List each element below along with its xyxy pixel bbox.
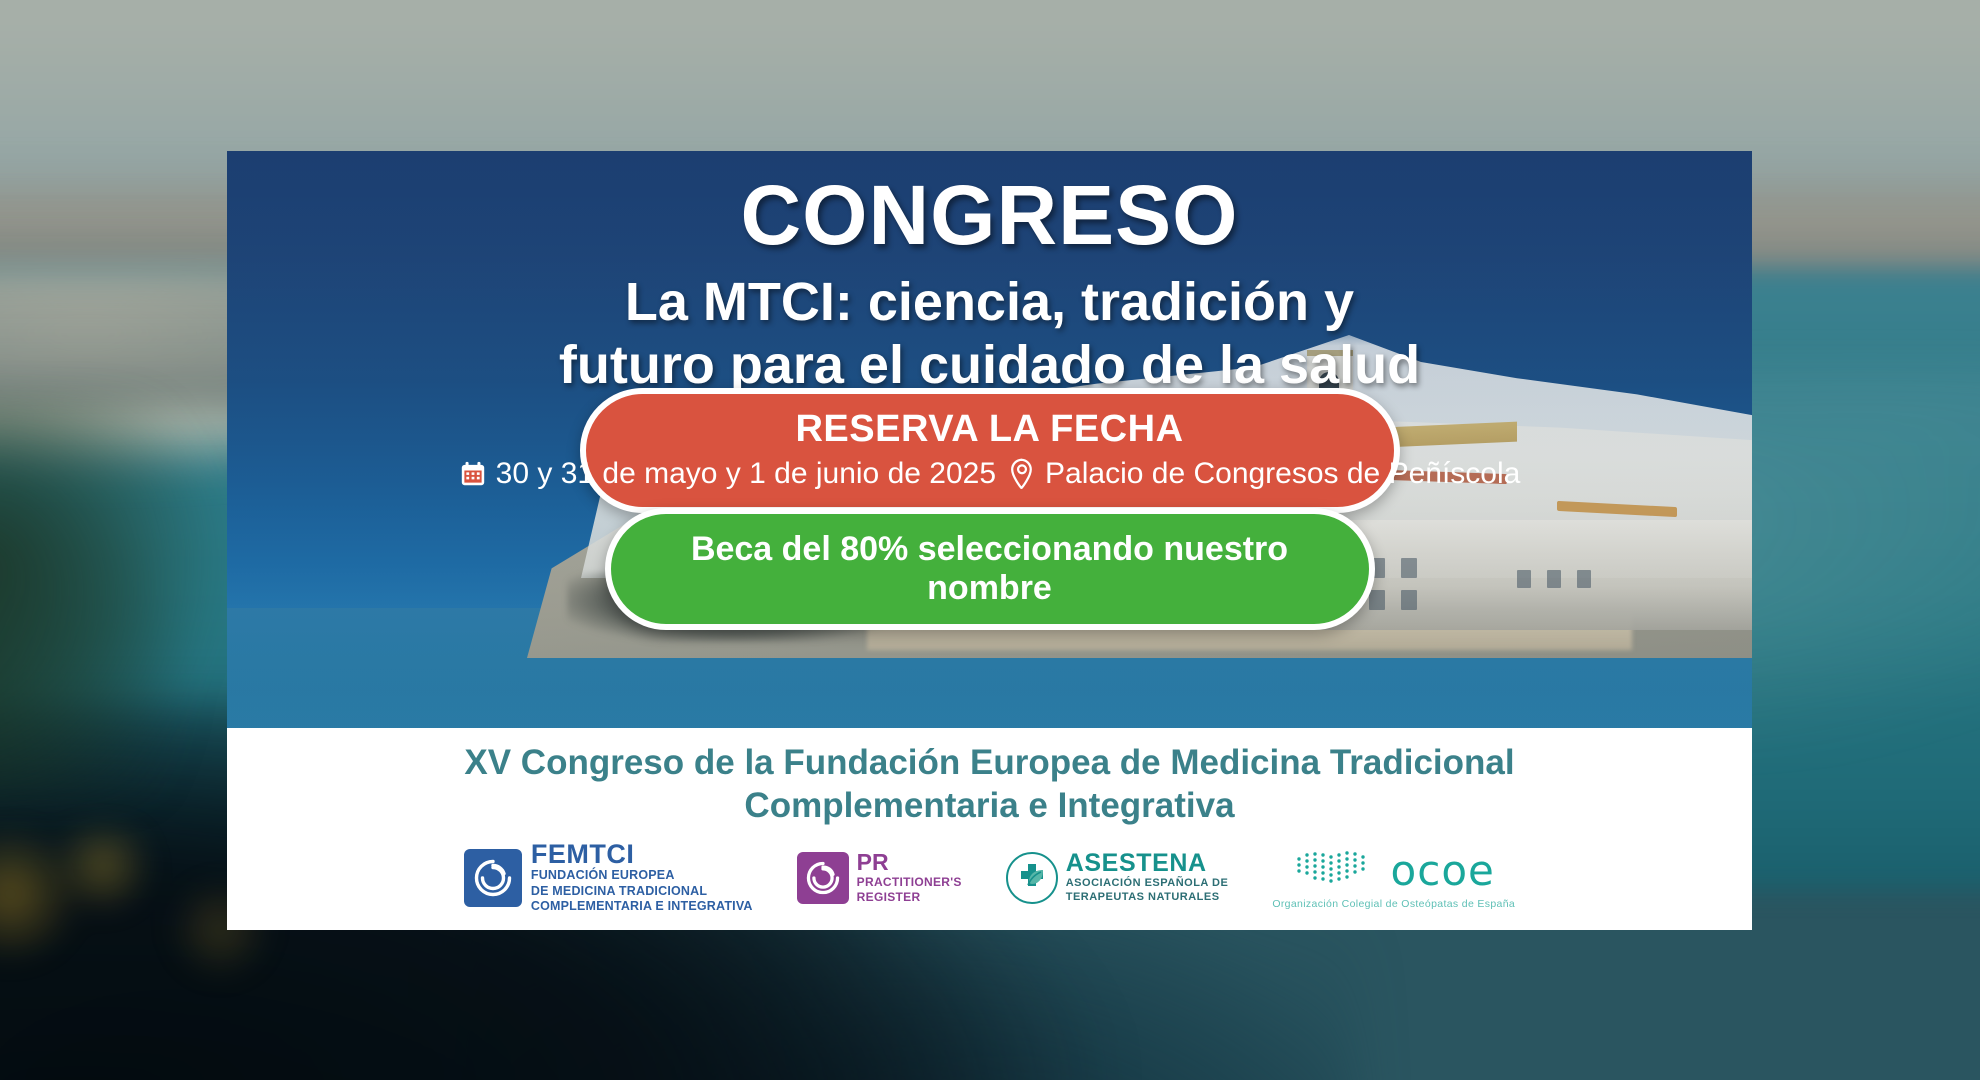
logo-practitioners-register[interactable]: PR PRACTITIONER'S REGISTER [797, 851, 962, 905]
date-pill-container: RESERVA LA FECHA [227, 388, 1752, 513]
calendar-icon [459, 460, 487, 488]
footer-title: XV Congreso de la Fundación Europea de M… [227, 742, 1752, 827]
footer-title-line-2: Complementaria e Integrativa [267, 785, 1712, 828]
congress-flyer-card: CONGRESO La MTCI: ciencia, tradición y f… [227, 151, 1752, 930]
flyer-footer: XV Congreso de la Fundación Europea de M… [227, 728, 1752, 930]
pr-text: PR PRACTITIONER'S REGISTER [857, 851, 962, 905]
grant-label: Beca del 80% seleccionando nuestro nombr… [637, 530, 1343, 608]
flyer-headline-block: CONGRESO La MTCI: ciencia, tradición y f… [227, 151, 1752, 425]
asestena-cross-leaf-icon [1006, 852, 1058, 904]
date-meta-item: 30 y 31 de mayo y 1 de junio de 2025 [459, 457, 996, 491]
pr-name: PR [857, 849, 889, 875]
reserve-date-meta: 30 y 31 de mayo y 1 de junio de 2025 Pal… [612, 457, 1368, 491]
footer-title-line-1: XV Congreso de la Fundación Europea de M… [267, 742, 1712, 785]
page-title: CONGRESO [227, 173, 1752, 259]
reserve-date-title: RESERVA LA FECHA [612, 408, 1368, 452]
ocoe-name: ocoe [1391, 850, 1495, 892]
pr-subtitle: PRACTITIONER'S REGISTER [857, 875, 962, 905]
asestena-subtitle: ASOCIACIÓN ESPAÑOLA DE TERAPEUTAS NATURA… [1066, 876, 1229, 905]
venue-meta-item: Palacio de Congresos de Peñíscola [1008, 457, 1520, 491]
femtci-text: FEMTCI FUNDACIÓN EUROPEA DE MEDICINA TRA… [531, 841, 753, 914]
event-date-text: 30 y 31 de mayo y 1 de junio de 2025 [496, 457, 996, 491]
pr-subtitle-line-1: PRACTITIONER'S [857, 875, 962, 890]
femtci-subtitle: FUNDACIÓN EUROPEA DE MEDICINA TRADICIONA… [531, 868, 753, 914]
background-palm-foliage [0, 400, 230, 800]
asestena-name: ASESTENA [1066, 849, 1207, 877]
asestena-text: ASESTENA ASOCIACIÓN ESPAÑOLA DE TERAPEUT… [1066, 851, 1229, 905]
ocoe-row: ocoe [1293, 845, 1495, 896]
femtci-name: FEMTCI [531, 839, 635, 869]
grant-pill[interactable]: Beca del 80% seleccionando nuestro nombr… [605, 508, 1375, 630]
sponsor-logo-row: FEMTCI FUNDACIÓN EUROPEA DE MEDICINA TRA… [227, 841, 1752, 914]
femtci-subtitle-line-1: FUNDACIÓN EUROPEA [531, 868, 753, 883]
asestena-subtitle-line-1: ASOCIACIÓN ESPAÑOLA DE [1066, 876, 1229, 890]
femtci-subtitle-line-2: DE MEDICINA TRADICIONAL [531, 884, 753, 899]
pr-subtitle-line-2: REGISTER [857, 890, 962, 905]
ocoe-subtitle: Organización Colegial de Osteópatas de E… [1272, 898, 1515, 910]
flyer-subtitle-line-1: La MTCI: ciencia, tradición y [287, 271, 1692, 334]
grant-pill-container: Beca del 80% seleccionando nuestro nombr… [227, 508, 1752, 630]
event-venue-text: Palacio de Congresos de Peñíscola [1045, 457, 1520, 491]
ocoe-dots-wave-icon [1293, 845, 1381, 896]
femtci-swirl-icon [464, 849, 522, 907]
logo-asestena[interactable]: ASESTENA ASOCIACIÓN ESPAÑOLA DE TERAPEUT… [1006, 851, 1229, 905]
asestena-subtitle-line-2: TERAPEUTAS NATURALES [1066, 890, 1229, 904]
reserve-date-pill[interactable]: RESERVA LA FECHA [580, 388, 1400, 513]
pr-swirl-icon [797, 852, 849, 904]
logo-ocoe[interactable]: ocoe Organización Colegial de Osteópatas… [1272, 845, 1515, 910]
logo-femtci[interactable]: FEMTCI FUNDACIÓN EUROPEA DE MEDICINA TRA… [464, 841, 753, 914]
femtci-subtitle-line-3: COMPLEMENTARIA E INTEGRATIVA [531, 899, 753, 914]
map-pin-icon [1008, 458, 1036, 490]
flyer-subtitle: La MTCI: ciencia, tradición y futuro par… [227, 271, 1752, 397]
